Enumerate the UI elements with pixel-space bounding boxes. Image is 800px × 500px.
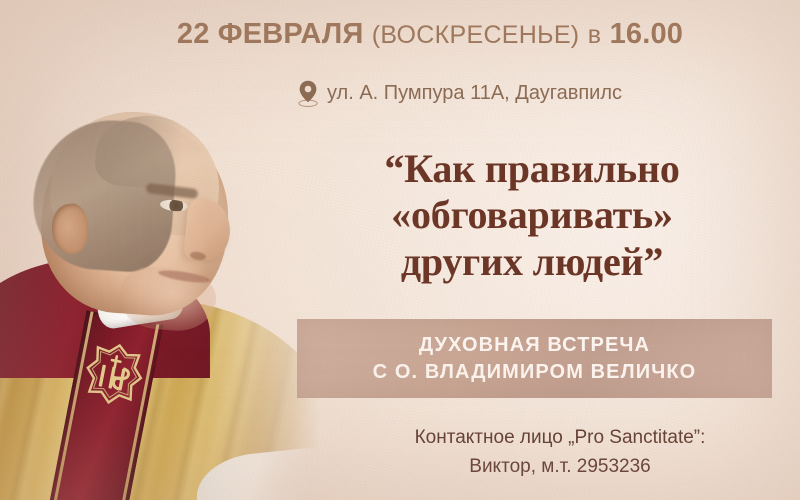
title-line-3: других людей” — [322, 239, 742, 285]
event-date: 22 ФЕВРАЛЯ — [177, 18, 364, 50]
banner-line-2: С О. ВЛАДИМИРОМ ВЕЛИЧКО — [373, 361, 697, 384]
address-text: ул. А. Пумпура 11А, Даугавпилс — [327, 82, 622, 105]
contact-line-2: Виктор, м.т. 2953236 — [340, 453, 780, 482]
venue-address: ул. А. Пумпура 11А, Даугавпилс — [250, 80, 670, 107]
location-pin-icon — [298, 80, 318, 107]
contact-line-1: Контактное лицо „Pro Sanctitate”: — [340, 424, 780, 453]
subtitle-banner: ДУХОВНАЯ ВСТРЕЧА С О. ВЛАДИМИРОМ ВЕЛИЧКО — [297, 319, 772, 398]
event-time: 16.00 — [610, 18, 684, 50]
time-preposition: в — [588, 21, 602, 49]
contact-info: Контактное лицо „Pro Sanctitate”: Виктор… — [340, 424, 780, 481]
title-line-2: «обговаривать» — [322, 192, 742, 238]
banner-line-1: ДУХОВНАЯ ВСТРЕЧА — [419, 334, 650, 357]
priest-photo — [0, 0, 330, 500]
event-poster: 22 ФЕВРАЛЯ (ВОСКРЕСЕНЬЕ) в 16.00 ул. А. … — [0, 0, 800, 500]
event-datetime: 22 ФЕВРАЛЯ (ВОСКРЕСЕНЬЕ) в 16.00 — [120, 18, 740, 51]
poster-title: “Как правильно «обговаривать» других люд… — [322, 146, 742, 285]
ihs-emblem-icon — [78, 338, 149, 420]
event-weekday: (ВОСКРЕСЕНЬЕ) — [372, 21, 580, 49]
title-line-1: “Как правильно — [322, 146, 742, 192]
